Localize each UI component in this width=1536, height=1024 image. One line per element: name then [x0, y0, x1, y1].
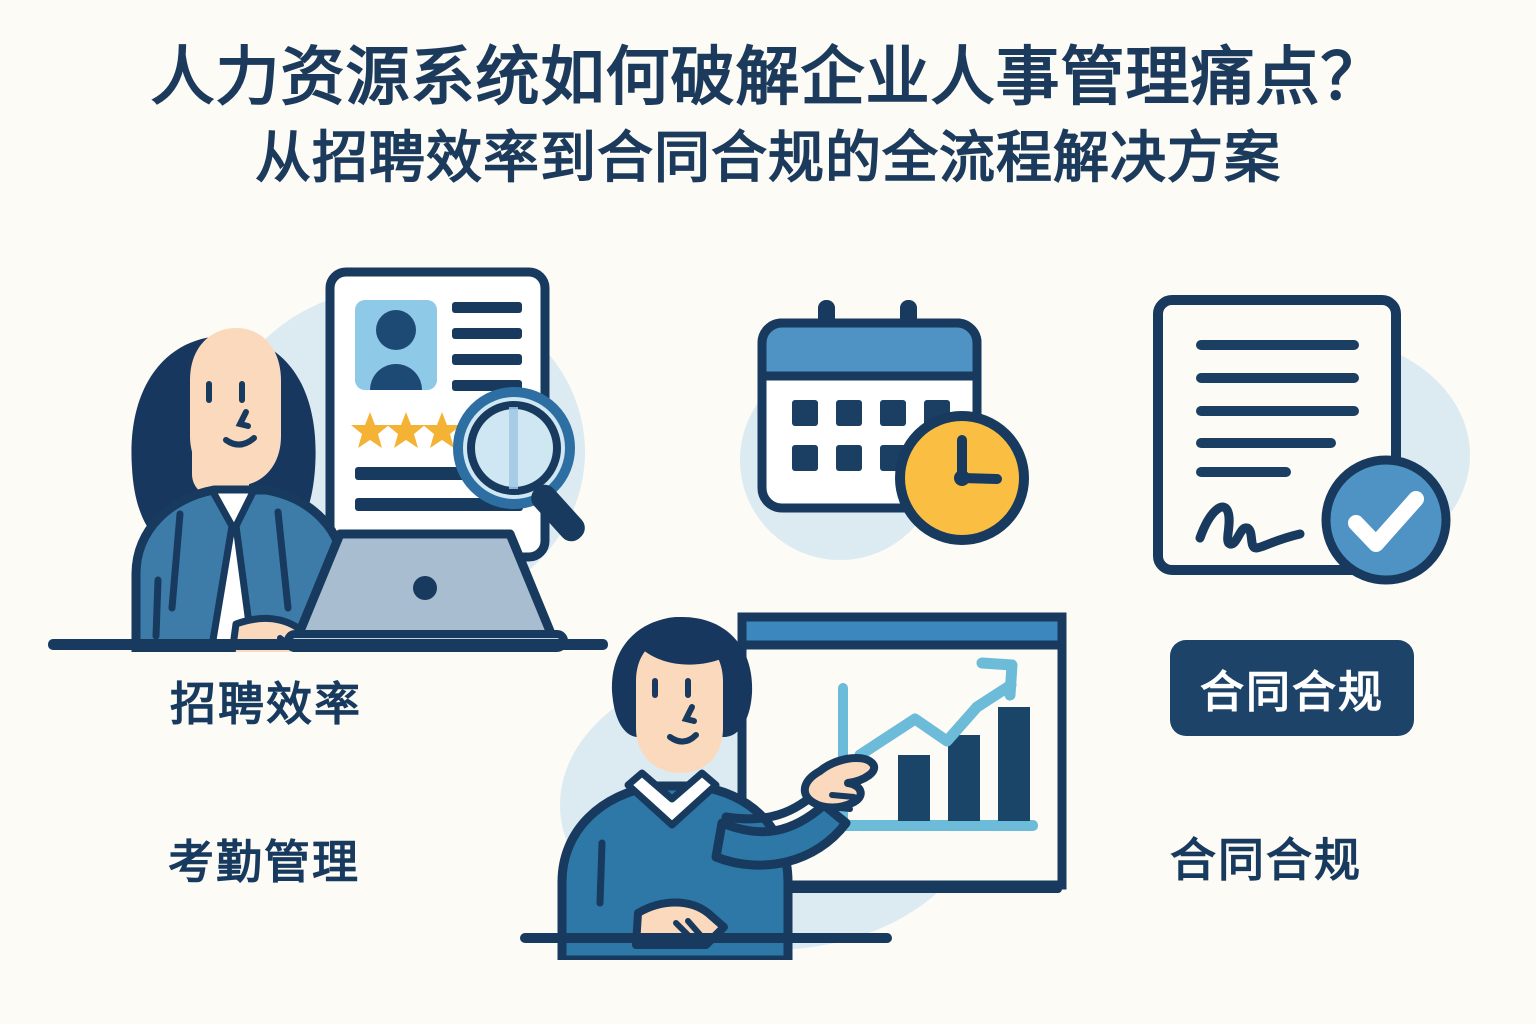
chart-x-axis: [838, 820, 1038, 831]
calendar-header: [762, 323, 977, 376]
clock-icon: [900, 416, 1024, 540]
caption-attendance-management: 考勤管理: [168, 826, 360, 892]
bar-3: [998, 707, 1030, 821]
illustration-recruiter-with-laptop: [40, 262, 680, 652]
illustration-presenter-with-chart: [520, 595, 1100, 960]
bar-1: [898, 755, 930, 821]
desk-line: [520, 933, 892, 943]
heading-block: 人力资源系统如何破解企业人事管理痛点？ 从招聘效率到合同合规的全流程解决方案: [0, 44, 1536, 187]
check-badge-icon: [1326, 460, 1446, 580]
infographic-canvas: 人力资源系统如何破解企业人事管理痛点？ 从招聘效率到合同合规的全流程解决方案: [0, 0, 1536, 1024]
illustration-signed-contract: [1130, 280, 1480, 610]
badge-contract-compliance: 合同合规: [1170, 640, 1414, 736]
page-subtitle: 从招聘效率到合同合规的全流程解决方案: [0, 128, 1536, 187]
bar-2: [948, 735, 980, 821]
caption-contract-compliance: 合同合规: [1170, 824, 1362, 890]
caption-recruiting-efficiency: 招聘效率: [170, 668, 362, 734]
illustration-calendar-with-clock: [730, 290, 1070, 575]
page-title: 人力资源系统如何破解企业人事管理痛点？: [0, 44, 1536, 112]
